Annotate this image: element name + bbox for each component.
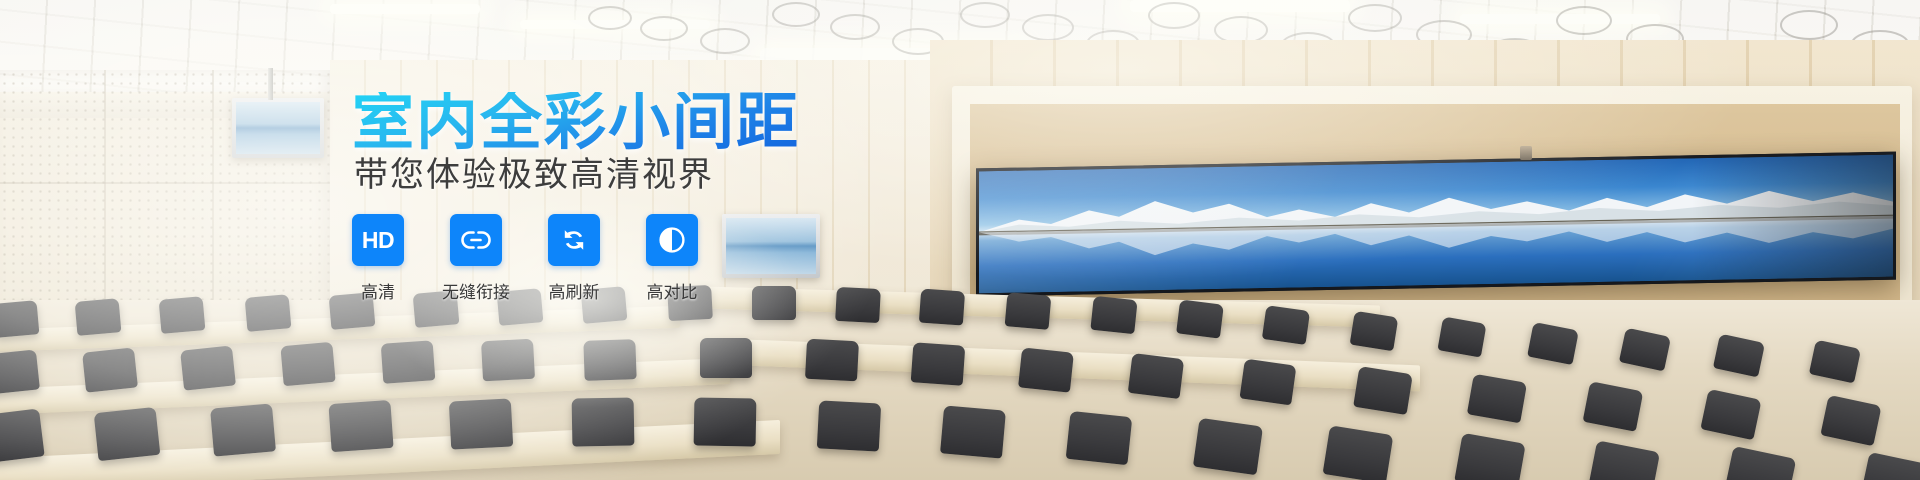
seat [940, 405, 1006, 458]
seat [583, 339, 636, 381]
ceiling-ring-decor [772, 2, 820, 27]
seat [1713, 334, 1765, 378]
ceiling-ring-decor [1556, 6, 1612, 35]
seat [1239, 359, 1296, 406]
seat [1350, 311, 1399, 351]
wall-monitor-left [232, 98, 324, 158]
ceiling-ring-decor [830, 14, 880, 40]
ceiling-ring-decor [1780, 10, 1838, 40]
seat [1700, 389, 1761, 440]
seat [752, 286, 796, 320]
feature-label: 无缝衔接 [442, 278, 510, 303]
seat [159, 296, 206, 334]
ceiling-ring-decor [700, 28, 750, 54]
feature-list: HD 高清 无缝衔接 [352, 214, 698, 303]
seat [1323, 425, 1394, 480]
seat [0, 349, 40, 394]
seat [245, 294, 292, 332]
seat [481, 339, 535, 382]
feature-label: 高对比 [647, 278, 698, 303]
led-video-wall [976, 152, 1896, 297]
feature-item-refresh[interactable]: 高刷新 [548, 214, 600, 303]
banner-subheadline: 带您体验极致高清视界 [354, 158, 714, 192]
ceiling-ring-decor [588, 6, 632, 30]
ceiling-ring-decor [1348, 4, 1402, 32]
seat [0, 300, 39, 338]
seat [805, 339, 859, 382]
seat [1820, 395, 1881, 446]
ceiling-ring-decor [1148, 2, 1200, 29]
seat [1619, 328, 1671, 372]
seat [280, 342, 335, 386]
monitor-screen [236, 102, 320, 154]
seat [210, 403, 276, 456]
banner-headline: 室内全彩小间距 [352, 92, 800, 154]
seat [1724, 446, 1797, 480]
seat [180, 345, 236, 390]
feature-label: 高刷新 [549, 278, 600, 303]
seat [1066, 411, 1133, 465]
seat [1860, 452, 1920, 480]
seat [694, 397, 757, 446]
seat [381, 340, 436, 384]
seat [1176, 299, 1224, 338]
seat [1193, 418, 1263, 475]
feature-item-hd[interactable]: HD 高清 [352, 214, 404, 303]
hd-icon: HD [352, 214, 404, 266]
feature-item-seamless[interactable]: 无缝衔接 [450, 214, 502, 303]
seat [1128, 353, 1184, 399]
led-screen-shadow [1692, 155, 1893, 281]
feature-label: 高清 [361, 278, 395, 303]
seat [328, 400, 393, 452]
seat [94, 407, 161, 461]
ceiling-light [330, 4, 480, 14]
seat [1454, 433, 1526, 480]
seat [75, 298, 122, 336]
ceiling-ring-decor [640, 16, 688, 41]
feature-item-contrast[interactable]: 高对比 [646, 214, 698, 303]
hd-icon-text: HD [362, 227, 394, 254]
seat [1437, 316, 1486, 357]
ceiling-camera [1520, 146, 1532, 160]
link-icon [450, 214, 502, 266]
seat [1018, 347, 1074, 392]
seat [572, 397, 635, 446]
seat [1090, 296, 1137, 334]
seat [1809, 340, 1861, 384]
seat [911, 342, 966, 386]
seat [1527, 322, 1579, 365]
ceiling-ring-decor [960, 2, 1010, 28]
led-display-banner: 室内全彩小间距 带您体验极致高清视界 HD 高清 [0, 0, 1920, 480]
ceiling-ring-decor [1022, 14, 1074, 41]
seat [1467, 374, 1527, 424]
seat [1005, 292, 1052, 330]
seat [1588, 440, 1660, 480]
seat [835, 287, 881, 323]
seat [1353, 366, 1413, 415]
seat [82, 347, 138, 392]
monitor-screen [726, 218, 816, 274]
wall-monitor-center [722, 214, 820, 278]
seat [1583, 381, 1644, 432]
refresh-icon [548, 214, 600, 266]
seat [919, 289, 965, 326]
seat [0, 408, 45, 463]
seat [1262, 305, 1310, 345]
contrast-icon [646, 214, 698, 266]
auditorium-floor [0, 300, 1920, 480]
seat [449, 398, 513, 449]
monitor-mount-arm [268, 68, 273, 100]
seat [700, 338, 752, 378]
seat [817, 400, 881, 451]
panel-seam [0, 182, 330, 184]
